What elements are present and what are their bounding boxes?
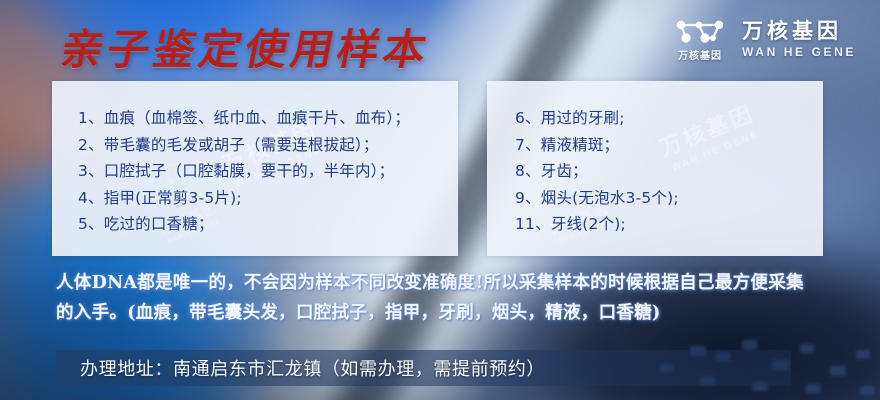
page-title: 亲子鉴定使用样本 [56,16,436,77]
brand-mark-label: 万核基因 [678,47,722,62]
brand-name-en: WAN HE GENE [742,46,856,59]
sample-list-right: 6、用过的牙刷; 7、精液精斑； 8、牙齿； 9、烟头(无泡水3-5个); 11… [487,81,823,238]
poster: 亲子鉴定使用样本 [0,0,880,400]
sample-card-right: 万核基因 WAN HE GENE 万核基因 WAN HE GENE 6、用过的牙… [487,81,823,256]
brand-logo: 万核基因 万核基因 WAN HE GENE [672,17,856,62]
brand-name-cn: 万核基因 [742,20,856,43]
list-item: 7、精液精斑； [515,132,823,159]
sample-card-left: 万核基因 WAN HE GENE 万核基因 WAN HE GENE 1、血痕（血… [52,81,458,256]
sample-list-left: 1、血痕（血棉签、纸巾血、血痕干片、血布）； 2、带毛囊的毛发或胡子（需要连根拔… [52,81,458,238]
list-item: 9、烟头(无泡水3-5个); [515,185,823,212]
list-item: 1、血痕（血棉签、纸巾血、血痕干片、血布）； [78,105,458,132]
list-item: 8、牙齿； [515,158,823,185]
notice-line-2: 的入手。(血痕，带毛囊头发，口腔拭子，指甲，牙刷，烟头，精液，口香糖) [56,298,856,328]
address-text: 办理地址：南通启东市汇龙镇（如需办理，需提前预约） [56,355,545,381]
list-item: 2、带毛囊的毛发或胡子（需要连根拔起）； [78,132,458,159]
list-item: 6、用过的牙刷; [515,105,823,132]
list-item: 4、指甲(正常剪3-5片); [78,185,458,212]
notice-line-1: 人体DNA都是唯一的，不会因为样本不同改变准确度!所以采集样本的时候根据自己最方… [56,268,856,298]
list-item: 3、口腔拭子（口腔黏膜，要干的，半年内）； [78,158,458,185]
address-bar: 办理地址：南通启东市汇龙镇（如需办理，需提前预约） [56,350,791,386]
brand-mark: 万核基因 [672,17,728,62]
list-item: 5、吃过的口香糖； [78,211,458,238]
list-item: 11、牙线(2个); [515,211,823,238]
brand-text: 万核基因 WAN HE GENE [742,20,856,59]
notice-paragraph: 人体DNA都是唯一的，不会因为样本不同改变准确度!所以采集样本的时候根据自己最方… [56,268,856,328]
molecule-network-icon [672,17,728,45]
